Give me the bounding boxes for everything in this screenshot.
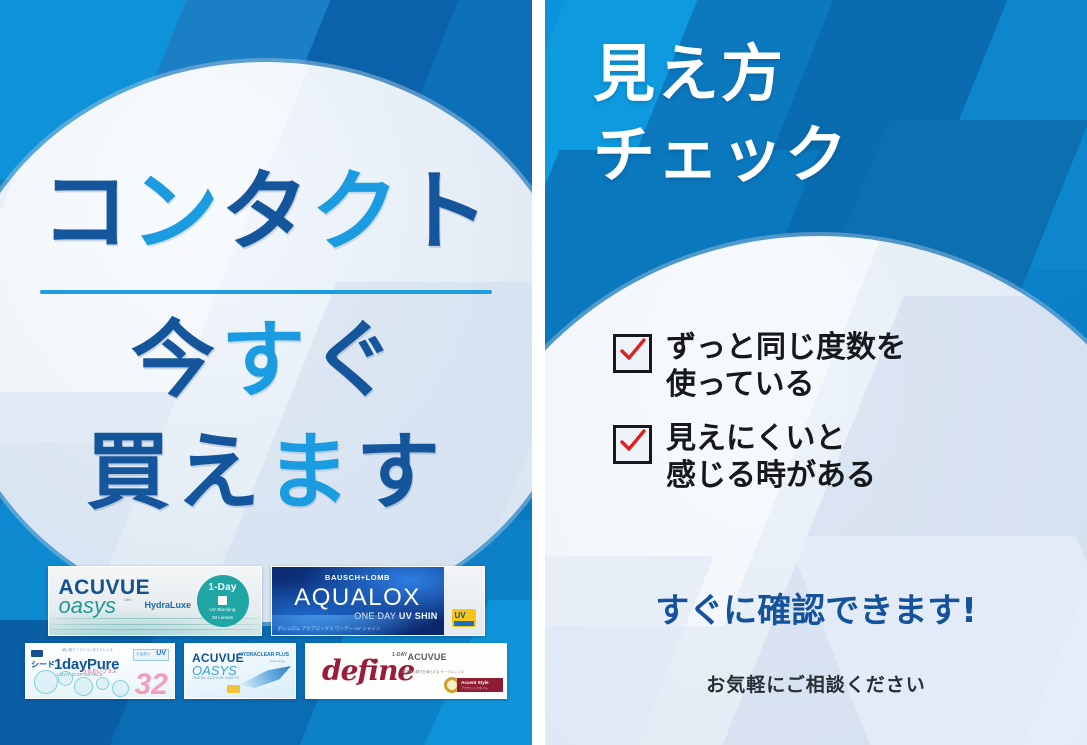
product-row-bottom: 使い捨てソフトコンタクトレンズ シード 1dayPure 1 DAY DISPO… <box>0 643 532 699</box>
seal-icon <box>227 685 240 693</box>
right-headline-line-1: 見え方 <box>593 34 849 115</box>
left-panel: コンタクト 今すぐ 買えます ACUVUE oasys with HydraLu… <box>0 0 532 745</box>
checkbox[interactable] <box>613 425 652 464</box>
maker-text: シード <box>31 659 55 670</box>
tech-note: Technology <box>270 659 285 663</box>
checkbox[interactable] <box>613 334 652 373</box>
header-note: 使い捨てソフトコンタクトレンズ <box>62 647 113 652</box>
uv-square-icon <box>218 596 227 605</box>
left-subheadline-2: 買えます <box>0 430 532 514</box>
product-showcase: ACUVUE oasys with HydraLuxe 1-Day UV Blo… <box>0 566 532 706</box>
badge-bottom: 30 Lenses <box>197 615 249 620</box>
headline-char: ン <box>131 168 221 256</box>
product-badge: 1-Day UV Blocking 30 Lenses <box>197 575 249 627</box>
tech-prefix: with <box>125 597 132 602</box>
headline-char: す <box>221 311 311 409</box>
checkmark-icon <box>618 428 648 456</box>
decor-swoosh <box>239 666 291 688</box>
maker-text: 1-DAYACUVUE <box>392 652 447 662</box>
checklist-label-line-2: 使っている <box>666 367 906 404</box>
poster-stage: コンタクト 今すぐ 買えます ACUVUE oasys with HydraLu… <box>0 0 1087 745</box>
line-text: oasys <box>59 593 116 619</box>
checklist-label: 見えにくいと感じる時がある <box>666 421 876 494</box>
headline-char: タ <box>221 168 311 256</box>
product-box-seed-1daypure[interactable]: 使い捨てソフトコンタクトレンズ シード 1dayPure 1 DAY DISPO… <box>25 643 175 699</box>
product-box-aqualox[interactable]: BAUSCH+LOMB AQUALOX ONE DAY UV SHIN ボシュロ… <box>271 566 485 636</box>
headline-char: ト <box>401 168 491 256</box>
maker-text: BAUSCH+LOMB <box>272 573 444 582</box>
sub-jp-text: うるおいプラス <box>82 668 117 675</box>
tiny-note: 瞳本来の輝きを演出する サークルレンズ <box>402 670 464 675</box>
uv-badge-icon: UV <box>452 609 476 627</box>
tech-text: HydraLuxe <box>145 600 192 610</box>
cta-text: すぐに確認できます! <box>545 583 1087 632</box>
checkmark-icon <box>618 337 648 365</box>
checklist-label-line-1: 見えにくいと <box>666 421 876 458</box>
seed-logo-icon <box>31 650 43 657</box>
headline-char: ま <box>266 423 356 521</box>
tech-text: HYDRACLEAR PLUS <box>239 652 289 658</box>
subtitle-text: ONE DAY UV SHIN <box>354 611 437 621</box>
jp-subtitle: ボシュロム アクアロックス ワンデー UV シャイン <box>278 626 381 632</box>
badge-top: 1-Day <box>197 582 249 593</box>
left-headline: コンタクト <box>0 168 532 256</box>
product-box-acuvue-oasys-hydraclear[interactable]: ACUVUE OASYS 2WEEK ACUVUE OASYS HYDRACLE… <box>184 643 296 699</box>
checklist-label: ずっと同じ度数を使っている <box>666 330 906 403</box>
symptom-checklist: ずっと同じ度数を使っている見えにくいと感じる時がある <box>613 330 1053 512</box>
checklist-item[interactable]: 見えにくいと感じる時がある <box>613 421 1053 494</box>
headline-char: 今 <box>131 311 221 409</box>
variant-bar: Accent Styleアクセントスタイル <box>457 678 503 692</box>
headline-char: 買 <box>86 423 176 521</box>
footer-note: お気軽にご相談ください <box>545 670 1087 697</box>
headline-char: ぐ <box>311 311 401 409</box>
headline-char: え <box>176 423 266 521</box>
product-box-acuvue-oasys-1day[interactable]: ACUVUE oasys with HydraLuxe 1-Day UV Blo… <box>48 566 262 636</box>
brand-text: AQUALOX <box>272 584 444 612</box>
checklist-label-line-2: 感じる時がある <box>666 458 876 495</box>
right-panel: 見え方 チェック ずっと同じ度数を使っている見えにくいと感じる時がある すぐに確… <box>545 0 1087 745</box>
headline-char: す <box>356 423 446 521</box>
checklist-item[interactable]: ずっと同じ度数を使っている <box>613 330 1053 403</box>
sub-text: 2WEEK ACUVUE OASYS <box>192 676 239 680</box>
aqualox-artwork: BAUSCH+LOMB AQUALOX ONE DAY UV SHIN ボシュロ… <box>272 567 444 635</box>
left-subheadline-1: 今すぐ <box>0 318 532 402</box>
uv-badge-icon: うるおいUV <box>133 649 169 661</box>
right-headline-line-2: チェック <box>593 115 849 196</box>
headline-char: コ <box>41 168 131 256</box>
aqualox-side-panel: UV <box>444 567 484 635</box>
headline-char: ク <box>311 168 401 256</box>
product-box-acuvue-define[interactable]: define 1-DAYACUVUE 瞳本来の輝きを演出する サークルレンズ A… <box>305 643 507 699</box>
headline-divider <box>40 290 492 294</box>
product-row-top: ACUVUE oasys with HydraLuxe 1-Day UV Blo… <box>0 566 532 636</box>
right-headline: 見え方 チェック <box>593 34 849 195</box>
badge-mid: UV Blocking <box>197 607 249 612</box>
lens-count: 32 <box>135 668 168 699</box>
checklist-label-line-1: ずっと同じ度数を <box>666 330 906 367</box>
